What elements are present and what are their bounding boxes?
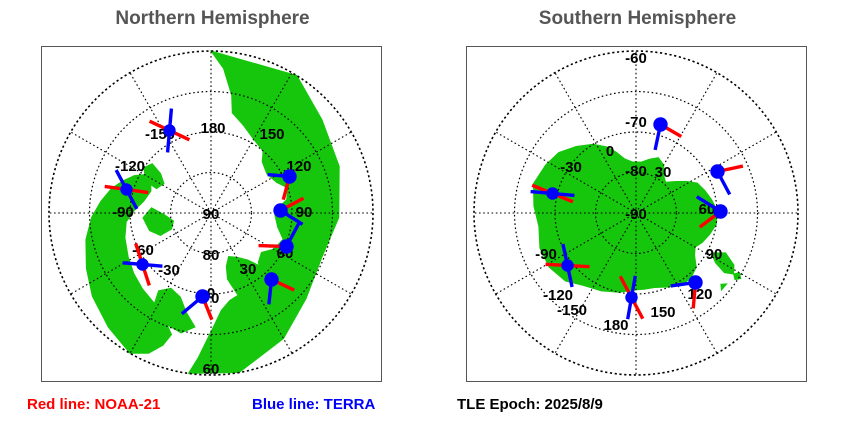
svg-text:180: 180	[603, 317, 628, 334]
svg-text:90: 90	[203, 206, 220, 223]
legend-tle-epoch: TLE Epoch: 2025/8/9	[457, 396, 603, 413]
northern-polar-plot: 1801501209060300-30-60-90-120-1509080706…	[42, 47, 380, 380]
svg-text:-120: -120	[543, 287, 573, 304]
svg-text:-120: -120	[115, 158, 145, 175]
southern-hemisphere-panel: Southern Hemisphere -60-3003060901201501…	[425, 0, 850, 390]
northern-hemisphere-panel: Northern Hemisphere 1801501209060300-30-…	[0, 0, 425, 390]
southern-polar-plot: -60-300306090120150180-150-120-90-70-80-…	[467, 47, 805, 380]
svg-text:-60: -60	[625, 50, 647, 67]
svg-text:-90: -90	[625, 206, 647, 223]
svg-text:-90: -90	[535, 246, 557, 263]
svg-text:30: 30	[655, 164, 672, 181]
svg-text:-30: -30	[560, 159, 582, 176]
svg-text:-150: -150	[557, 302, 587, 319]
svg-text:90: 90	[296, 204, 313, 221]
svg-text:30: 30	[240, 261, 257, 278]
southern-panel-title: Southern Hemisphere	[425, 6, 850, 32]
svg-text:90: 90	[706, 246, 723, 263]
svg-text:80: 80	[203, 247, 220, 264]
legend-bar: Red line: NOAA-21 Blue line: TERRA TLE E…	[0, 390, 850, 425]
svg-text:150: 150	[259, 126, 284, 143]
svg-text:180: 180	[200, 120, 225, 137]
svg-text:120: 120	[687, 286, 712, 303]
southern-plot-frame: -60-300306090120150180-150-120-90-70-80-…	[466, 46, 807, 382]
legend-terra: Blue line: TERRA	[252, 396, 375, 413]
marker-sh-1	[653, 117, 681, 150]
northern-plot-frame: 1801501209060300-30-60-90-120-1509080706…	[41, 46, 382, 382]
svg-text:-80: -80	[625, 163, 647, 180]
svg-text:-70: -70	[625, 114, 647, 131]
svg-text:150: 150	[650, 304, 675, 321]
svg-text:-90: -90	[112, 204, 134, 221]
svg-text:60: 60	[203, 361, 220, 378]
marker-sh-2	[710, 164, 743, 194]
northern-panel-title: Northern Hemisphere	[0, 6, 425, 32]
legend-noaa21: Red line: NOAA-21	[27, 396, 160, 413]
svg-text:0: 0	[606, 143, 614, 160]
